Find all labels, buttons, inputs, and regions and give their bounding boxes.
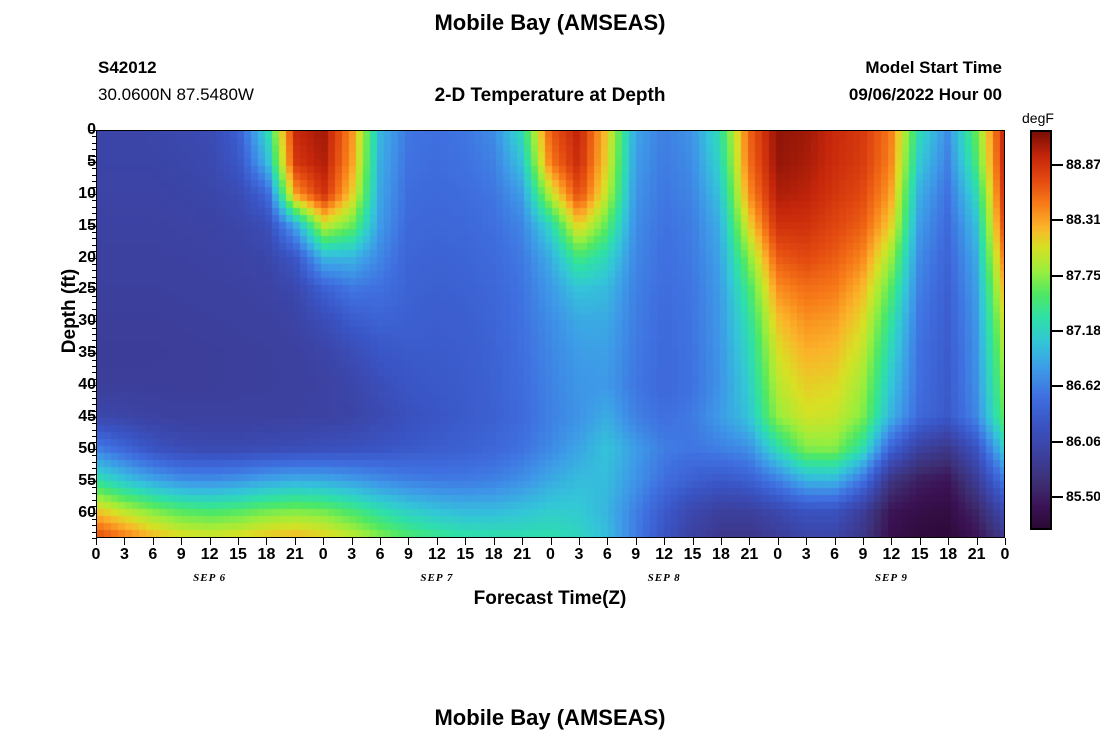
x-tick-mark bbox=[522, 538, 523, 545]
x-tick-label: 6 bbox=[376, 546, 385, 564]
x-tick-mark bbox=[323, 538, 324, 545]
y-minor-tick bbox=[92, 232, 96, 233]
heatmap-canvas bbox=[97, 131, 1004, 537]
x-tick-label: 6 bbox=[830, 546, 839, 564]
x-tick-label: 21 bbox=[513, 546, 531, 564]
x-tick-mark bbox=[266, 538, 267, 545]
heatmap-plot-area bbox=[96, 130, 1005, 538]
x-tick-label: 0 bbox=[773, 546, 782, 564]
x-tick-mark bbox=[891, 538, 892, 545]
y-minor-tick bbox=[92, 258, 96, 259]
colorbar-tick-mark bbox=[1052, 330, 1063, 332]
y-minor-tick bbox=[92, 251, 96, 252]
y-minor-tick bbox=[92, 506, 96, 507]
x-tick-mark bbox=[778, 538, 779, 545]
x-tick-label: 15 bbox=[229, 546, 247, 564]
y-minor-tick bbox=[92, 270, 96, 271]
x-tick-label: 15 bbox=[911, 546, 929, 564]
x-tick-mark bbox=[806, 538, 807, 545]
x-tick-label: 0 bbox=[546, 546, 555, 564]
y-minor-tick bbox=[92, 513, 96, 514]
y-minor-tick bbox=[92, 462, 96, 463]
page-title-top: Mobile Bay (AMSEAS) bbox=[0, 10, 1100, 36]
y-minor-tick bbox=[92, 309, 96, 310]
y-minor-tick bbox=[92, 143, 96, 144]
colorbar-tick-mark bbox=[1052, 164, 1063, 166]
x-tick-label: 9 bbox=[859, 546, 868, 564]
x-tick-label: 6 bbox=[148, 546, 157, 564]
x-tick-label: 0 bbox=[319, 546, 328, 564]
y-minor-tick bbox=[92, 423, 96, 424]
x-tick-label: 15 bbox=[456, 546, 474, 564]
colorbar-tick-mark bbox=[1052, 219, 1063, 221]
x-tick-mark bbox=[693, 538, 694, 545]
y-minor-tick bbox=[92, 442, 96, 443]
x-tick-mark bbox=[380, 538, 381, 545]
colorbar-tick-label: 86.0625 bbox=[1066, 433, 1100, 449]
colorbar-tick-label: 88.8750 bbox=[1066, 156, 1100, 172]
x-tick-label: 21 bbox=[740, 546, 758, 564]
x-tick-mark bbox=[721, 538, 722, 545]
x-tick-label: 3 bbox=[120, 546, 129, 564]
x-tick-mark bbox=[607, 538, 608, 545]
y-minor-tick bbox=[92, 391, 96, 392]
y-minor-tick bbox=[92, 194, 96, 195]
x-tick-mark bbox=[124, 538, 125, 545]
x-tick-mark bbox=[153, 538, 154, 545]
x-tick-label: 18 bbox=[485, 546, 503, 564]
x-tick-label: 12 bbox=[428, 546, 446, 564]
colorbar-tick-label: 87.7500 bbox=[1066, 267, 1100, 283]
y-minor-tick bbox=[92, 385, 96, 386]
y-minor-tick bbox=[92, 245, 96, 246]
x-tick-mark bbox=[210, 538, 211, 545]
x-tick-label: 6 bbox=[603, 546, 612, 564]
x-tick-mark bbox=[551, 538, 552, 545]
y-minor-tick bbox=[92, 417, 96, 418]
y-minor-tick bbox=[92, 436, 96, 437]
colorbar-tick-label: 85.5000 bbox=[1066, 488, 1100, 504]
x-tick-label: 9 bbox=[404, 546, 413, 564]
y-minor-tick bbox=[92, 149, 96, 150]
x-tick-mark bbox=[636, 538, 637, 545]
y-minor-tick bbox=[92, 347, 96, 348]
colorbar-canvas bbox=[1032, 132, 1050, 528]
y-minor-tick bbox=[92, 162, 96, 163]
y-minor-tick bbox=[92, 136, 96, 137]
y-minor-tick bbox=[92, 519, 96, 520]
y-minor-tick bbox=[92, 366, 96, 367]
y-minor-tick bbox=[92, 289, 96, 290]
x-tick-label: 0 bbox=[92, 546, 101, 564]
x-tick-label: 18 bbox=[712, 546, 730, 564]
colorbar-tick-mark bbox=[1052, 441, 1063, 443]
x-tick-mark bbox=[295, 538, 296, 545]
x-tick-label: 9 bbox=[631, 546, 640, 564]
y-minor-tick bbox=[92, 379, 96, 380]
x-tick-mark bbox=[96, 538, 97, 545]
x-axis-day-label: SEP 8 bbox=[648, 572, 681, 584]
y-minor-tick bbox=[92, 360, 96, 361]
x-tick-mark bbox=[494, 538, 495, 545]
y-minor-tick bbox=[92, 525, 96, 526]
x-axis-day-label: SEP 7 bbox=[420, 572, 453, 584]
x-tick-label: 3 bbox=[574, 546, 583, 564]
y-minor-tick bbox=[92, 398, 96, 399]
colorbar-tick-label: 87.1875 bbox=[1066, 322, 1100, 338]
x-tick-mark bbox=[1005, 538, 1006, 545]
x-axis-day-label: SEP 9 bbox=[875, 572, 908, 584]
y-minor-tick bbox=[92, 168, 96, 169]
x-tick-mark bbox=[948, 538, 949, 545]
y-minor-tick bbox=[92, 219, 96, 220]
y-minor-tick bbox=[92, 328, 96, 329]
y-minor-tick bbox=[92, 181, 96, 182]
y-minor-tick bbox=[92, 175, 96, 176]
y-minor-tick bbox=[92, 226, 96, 227]
x-tick-mark bbox=[352, 538, 353, 545]
y-minor-tick bbox=[92, 296, 96, 297]
x-tick-mark bbox=[579, 538, 580, 545]
y-minor-tick bbox=[92, 404, 96, 405]
y-minor-tick bbox=[92, 130, 96, 131]
x-tick-label: 9 bbox=[177, 546, 186, 564]
colorbar bbox=[1030, 130, 1052, 530]
y-minor-tick bbox=[92, 411, 96, 412]
colorbar-tick-mark bbox=[1052, 385, 1063, 387]
y-minor-tick bbox=[92, 302, 96, 303]
model-start-time-label: Model Start Time bbox=[865, 58, 1002, 78]
colorbar-tick-mark bbox=[1052, 275, 1063, 277]
x-tick-mark bbox=[749, 538, 750, 545]
y-minor-tick bbox=[92, 493, 96, 494]
page-title-bottom: Mobile Bay (AMSEAS) bbox=[0, 705, 1100, 731]
x-tick-label: 12 bbox=[882, 546, 900, 564]
y-minor-tick bbox=[92, 449, 96, 450]
x-tick-label: 12 bbox=[655, 546, 673, 564]
colorbar-unit-label: degF bbox=[1022, 110, 1054, 126]
y-minor-tick bbox=[92, 264, 96, 265]
x-tick-label: 21 bbox=[968, 546, 986, 564]
y-minor-tick bbox=[92, 353, 96, 354]
y-minor-tick bbox=[92, 481, 96, 482]
x-tick-label: 18 bbox=[258, 546, 276, 564]
x-tick-mark bbox=[465, 538, 466, 545]
x-tick-mark bbox=[664, 538, 665, 545]
x-axis: 0369121518210369121518210369121518210369… bbox=[96, 538, 1005, 588]
x-tick-mark bbox=[835, 538, 836, 545]
colorbar-tick-label: 88.3125 bbox=[1066, 211, 1100, 227]
x-tick-label: 3 bbox=[347, 546, 356, 564]
y-minor-tick bbox=[92, 468, 96, 469]
x-tick-label: 0 bbox=[1001, 546, 1010, 564]
colorbar-tick-mark bbox=[1052, 496, 1063, 498]
x-tick-mark bbox=[437, 538, 438, 545]
y-minor-tick bbox=[92, 430, 96, 431]
x-axis-day-label: SEP 6 bbox=[193, 572, 226, 584]
y-minor-tick bbox=[92, 207, 96, 208]
y-minor-tick bbox=[92, 200, 96, 201]
y-minor-tick bbox=[92, 238, 96, 239]
x-tick-mark bbox=[977, 538, 978, 545]
x-tick-label: 21 bbox=[286, 546, 304, 564]
y-minor-tick bbox=[92, 372, 96, 373]
y-minor-tick bbox=[92, 156, 96, 157]
colorbar-tick-label: 86.6250 bbox=[1066, 377, 1100, 393]
y-minor-tick bbox=[92, 340, 96, 341]
y-minor-tick bbox=[92, 487, 96, 488]
y-minor-tick bbox=[92, 187, 96, 188]
station-id: S42012 bbox=[98, 58, 157, 78]
x-tick-label: 12 bbox=[201, 546, 219, 564]
y-minor-tick bbox=[92, 213, 96, 214]
y-minor-tick bbox=[92, 334, 96, 335]
x-tick-mark bbox=[408, 538, 409, 545]
x-tick-mark bbox=[920, 538, 921, 545]
y-axis-label: Depth (ft) bbox=[59, 231, 81, 391]
y-minor-tick bbox=[92, 455, 96, 456]
model-start-time-value: 09/06/2022 Hour 00 bbox=[849, 85, 1002, 105]
x-tick-label: 18 bbox=[939, 546, 957, 564]
x-axis-label: Forecast Time(Z) bbox=[0, 588, 1100, 610]
x-tick-label: 3 bbox=[802, 546, 811, 564]
x-tick-mark bbox=[181, 538, 182, 545]
x-tick-label: 15 bbox=[684, 546, 702, 564]
x-tick-mark bbox=[238, 538, 239, 545]
y-minor-tick bbox=[92, 283, 96, 284]
y-minor-tick bbox=[92, 500, 96, 501]
x-tick-mark bbox=[863, 538, 864, 545]
y-minor-tick bbox=[92, 315, 96, 316]
y-minor-tick bbox=[92, 321, 96, 322]
y-minor-tick bbox=[92, 277, 96, 278]
y-minor-tick bbox=[92, 474, 96, 475]
y-minor-tick bbox=[92, 532, 96, 533]
